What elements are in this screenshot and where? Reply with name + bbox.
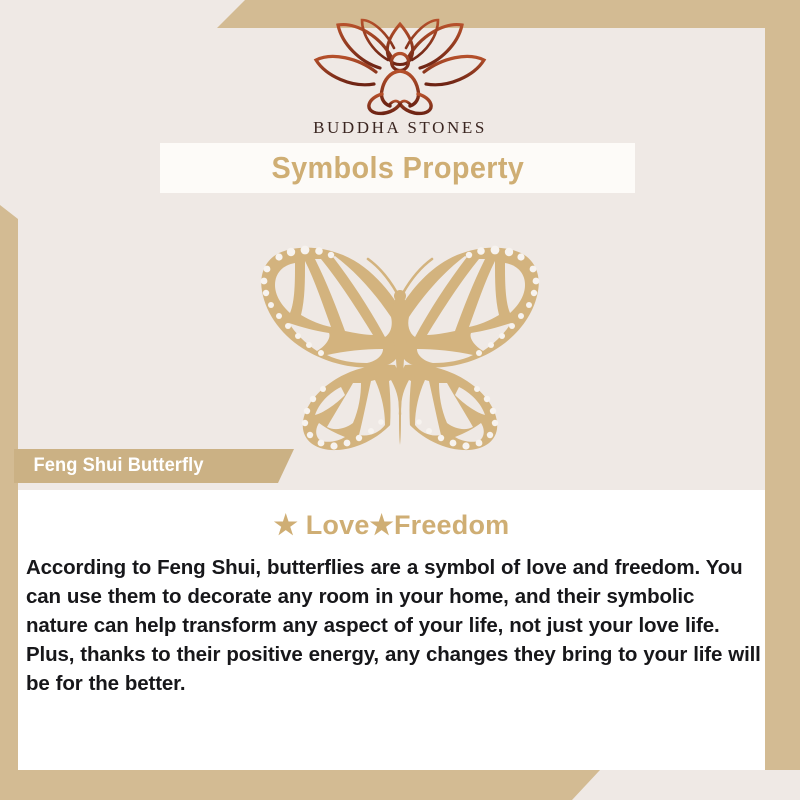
feng-shui-ribbon: Feng Shui Butterfly [14,449,294,483]
poster-header: BUDDHA STONES [0,0,800,150]
monarch-butterfly-icon [235,233,565,458]
lotus-yoga-figure-icon [275,18,525,116]
ribbon-label: Feng Shui Butterfly [34,455,204,477]
brand-wordmark: BUDDHA STONES [275,118,525,138]
poster-canvas: BUDDHA STONES Symbols Property [0,0,800,800]
decor-band-bottom [0,770,600,800]
brand-logo: BUDDHA STONES [275,18,525,138]
title-banner: Symbols Property [160,143,635,193]
content-subheading: ★ Love★Freedom [18,510,765,541]
content-card: ★ Love★Freedom According to Feng Shui, b… [18,490,765,770]
page-title: Symbols Property [271,150,524,186]
illustration-container [0,228,800,463]
content-paragraph: According to Feng Shui, butterflies are … [18,553,765,699]
